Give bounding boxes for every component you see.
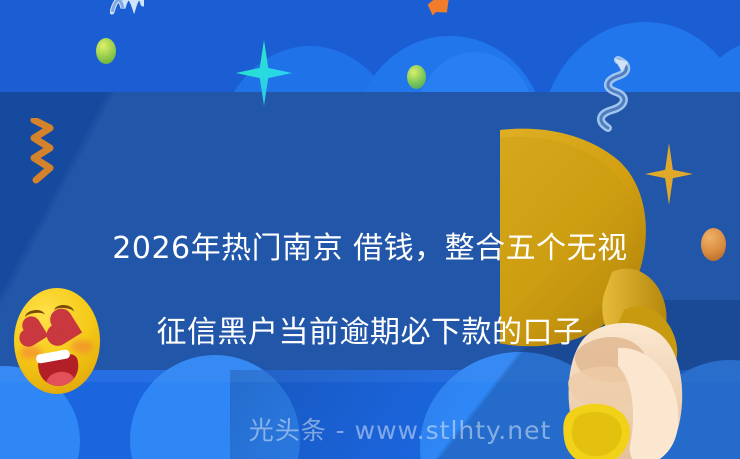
watermark-text: 光头条 - www.stlhty.net [0, 411, 740, 447]
ball-green-2-icon [407, 65, 426, 89]
poster-title: 2026年热门南京 借钱，整合五个无视 征信黑户当前逾期必下款的口子 [0, 186, 740, 396]
poster-title-line-1: 2026年热门南京 借钱，整合五个无视 [20, 228, 720, 270]
ribbon-zigzag-orange-icon [28, 118, 58, 188]
promo-poster: 2026年热门南京 借钱，整合五个无视 征信黑户当前逾期必下款的口子 光头条 -… [0, 0, 740, 459]
sparkle-cyan-icon [236, 40, 292, 106]
ribbon-light-blue-icon [110, 0, 144, 18]
ball-green-icon [96, 38, 116, 64]
poster-title-line-2: 征信黑户当前逾期必下款的口子 [20, 312, 720, 354]
